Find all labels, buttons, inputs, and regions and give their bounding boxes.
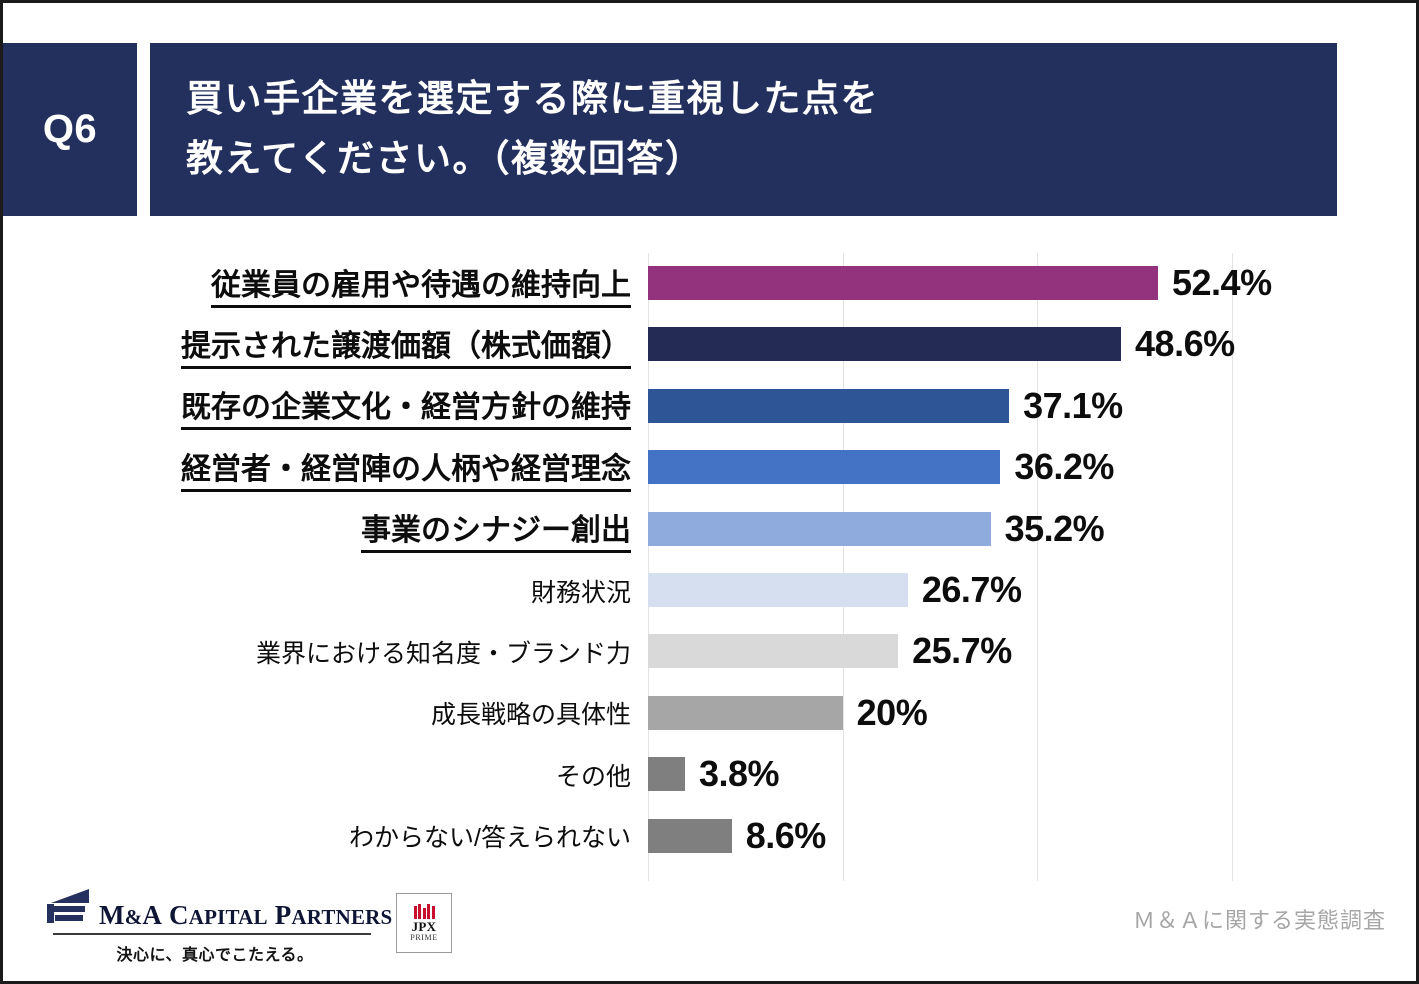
bar bbox=[648, 757, 685, 791]
bar-value-label: 26.7% bbox=[922, 569, 1022, 611]
category-label-row: 提示された譲渡価額（株式価額） bbox=[63, 314, 631, 375]
bar-row: 25.7% bbox=[648, 621, 1232, 682]
bar-value-label: 52.4% bbox=[1172, 262, 1272, 304]
bar-row: 26.7% bbox=[648, 560, 1232, 621]
bar-value-label: 3.8% bbox=[699, 753, 779, 795]
bar-value-label: 35.2% bbox=[1005, 508, 1105, 550]
logo-divider bbox=[53, 933, 371, 935]
bar bbox=[648, 696, 843, 730]
logo-wordmark: M&A CAPITAL PARTNERS bbox=[99, 902, 392, 929]
bar-chart: 従業員の雇用や待遇の維持向上提示された譲渡価額（株式価額）既存の企業文化・経営方… bbox=[3, 235, 1419, 895]
company-logo: M&A CAPITAL PARTNERS 決心に、真心でこたえる。 bbox=[47, 887, 377, 965]
logo-top-row: M&A CAPITAL PARTNERS bbox=[47, 887, 377, 929]
bar-row: 52.4% bbox=[648, 253, 1232, 314]
bar-row: 20% bbox=[648, 683, 1232, 744]
question-number-badge: Q6 bbox=[3, 43, 137, 216]
logo-tagline: 決心に、真心でこたえる。 bbox=[53, 941, 377, 965]
category-label-column: 従業員の雇用や待遇の維持向上提示された譲渡価額（株式価額）既存の企業文化・経営方… bbox=[63, 253, 631, 881]
category-label: 成長戦略の具体性 bbox=[431, 695, 631, 731]
bar bbox=[648, 573, 908, 607]
slide-canvas: Q6 買い手企業を選定する際に重視した点を 教えてください。（複数回答） 従業員… bbox=[0, 0, 1419, 984]
bar bbox=[648, 266, 1158, 300]
category-label-row: その他 bbox=[63, 744, 631, 805]
question-header: Q6 買い手企業を選定する際に重視した点を 教えてください。（複数回答） bbox=[3, 43, 1337, 216]
category-label-row: 経営者・経営陣の人柄や経営理念 bbox=[63, 437, 631, 498]
category-label: 事業のシナジー創出 bbox=[361, 505, 631, 553]
category-label-row: 財務状況 bbox=[63, 560, 631, 621]
jpx-label: JPX bbox=[412, 920, 437, 933]
bar bbox=[648, 450, 1000, 484]
category-label: 従業員の雇用や待遇の維持向上 bbox=[211, 260, 631, 308]
category-label-row: 事業のシナジー創出 bbox=[63, 499, 631, 560]
bar-value-label: 25.7% bbox=[912, 630, 1012, 672]
category-label-row: わからない/答えられない bbox=[63, 806, 631, 867]
bar-value-label: 36.2% bbox=[1014, 446, 1114, 488]
bar-value-label: 48.6% bbox=[1135, 323, 1235, 365]
bar-value-label: 8.6% bbox=[746, 815, 826, 857]
question-title-line-1: 買い手企業を選定する際に重視した点を bbox=[186, 69, 1337, 129]
logo-word-apital: APITAL bbox=[189, 905, 268, 929]
bar-value-label: 37.1% bbox=[1023, 385, 1123, 427]
bar bbox=[648, 512, 991, 546]
logo-word-m: M bbox=[99, 900, 125, 930]
bar bbox=[648, 819, 732, 853]
category-label-row: 成長戦略の具体性 bbox=[63, 683, 631, 744]
bar-row: 37.1% bbox=[648, 376, 1232, 437]
survey-note: Ｍ＆Ａに関する実態調査 bbox=[1133, 903, 1386, 935]
logo-word-p: P bbox=[275, 900, 292, 930]
question-number-label: Q6 bbox=[43, 107, 97, 152]
logo-word-amp: & bbox=[125, 905, 143, 929]
bar bbox=[648, 634, 898, 668]
bar-row: 35.2% bbox=[648, 499, 1232, 560]
bar bbox=[648, 327, 1121, 361]
bar-value-label: 20% bbox=[857, 692, 928, 734]
category-label: わからない/答えられない bbox=[349, 818, 631, 854]
category-label: 経営者・経営陣の人柄や経営理念 bbox=[181, 444, 631, 492]
bar-row: 3.8% bbox=[648, 744, 1232, 805]
jpx-prime-badge: JPX PRIME bbox=[396, 893, 452, 953]
logo-word-artners: ARTNERS bbox=[291, 905, 392, 929]
category-label: 業界における知名度・ブランド力 bbox=[256, 634, 631, 670]
jpx-logo-icon bbox=[414, 904, 435, 919]
bar-row: 36.2% bbox=[648, 437, 1232, 498]
slide-footer: M&A CAPITAL PARTNERS 決心に、真心でこたえる。 JPX PR… bbox=[3, 881, 1419, 981]
bar-row: 8.6% bbox=[648, 806, 1232, 867]
logo-word-c: C bbox=[169, 900, 189, 930]
jpx-sublabel: PRIME bbox=[410, 934, 437, 942]
category-label-row: 既存の企業文化・経営方針の維持 bbox=[63, 376, 631, 437]
logo-word-a: A bbox=[142, 900, 162, 930]
question-title-line-2: 教えてください。（複数回答） bbox=[186, 129, 1337, 189]
category-label: 財務状況 bbox=[531, 573, 631, 609]
category-label: 提示された譲渡価額（株式価額） bbox=[181, 321, 631, 369]
category-label: その他 bbox=[556, 757, 631, 793]
category-label: 既存の企業文化・経営方針の維持 bbox=[181, 382, 631, 430]
category-label-row: 業界における知名度・ブランド力 bbox=[63, 621, 631, 682]
bar-row: 48.6% bbox=[648, 314, 1232, 375]
bar bbox=[648, 389, 1009, 423]
plot-area: 52.4%48.6%37.1%36.2%35.2%26.7%25.7%20%3.… bbox=[648, 253, 1232, 881]
logo-mark-icon bbox=[47, 887, 91, 929]
category-label-row: 従業員の雇用や待遇の維持向上 bbox=[63, 253, 631, 314]
question-title-box: 買い手企業を選定する際に重視した点を 教えてください。（複数回答） bbox=[150, 43, 1337, 216]
